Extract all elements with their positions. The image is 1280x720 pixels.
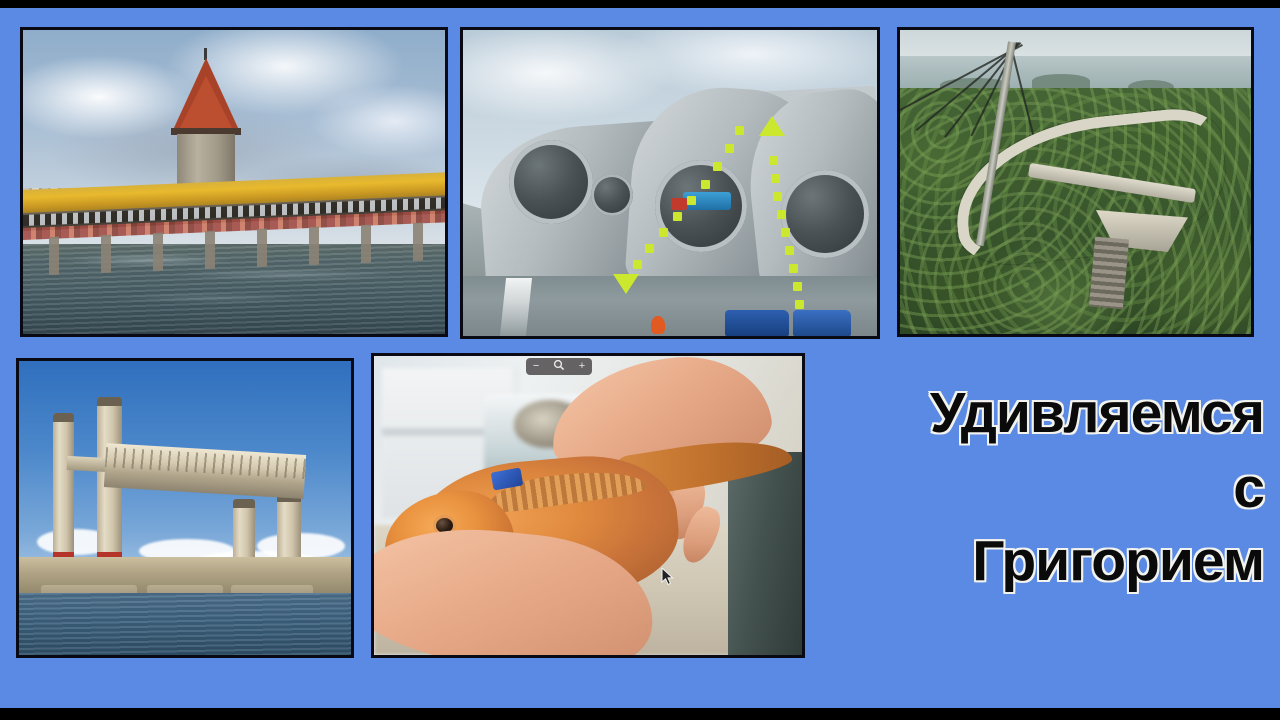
photo-panel-bearded-dragon[interactable]: − + [371, 353, 805, 658]
zoom-control-overlay[interactable]: − + [526, 358, 592, 375]
person-trousers [728, 452, 802, 655]
photo-panel-falkirk-wheel[interactable] [460, 27, 880, 339]
letterbox-bar-top [0, 0, 1280, 8]
parked-car-2 [793, 310, 851, 336]
water-tower [173, 58, 239, 190]
photo-panel-chaban-delmas-bridge[interactable] [16, 358, 354, 658]
title-line-2: с [812, 460, 1264, 517]
deck-stub [67, 456, 110, 472]
gondola-small [591, 174, 633, 216]
photo-panel-chapel-bridge-lucerne[interactable] [20, 27, 448, 337]
tower-cap [53, 413, 74, 422]
gondola-left [509, 140, 593, 224]
tower-cap [233, 499, 255, 508]
letterbox-bar-bottom [0, 708, 1280, 720]
boat-red-detail [671, 198, 687, 210]
zoom-out-button[interactable]: − [533, 361, 539, 372]
title-line-1: Удивляемся [812, 385, 1264, 442]
garonne-river [19, 593, 351, 655]
arrowhead-down [613, 274, 639, 294]
arrowhead-up [759, 116, 785, 136]
access-stairway [1089, 237, 1129, 310]
video-title: Удивляемся с Григорием [812, 385, 1264, 590]
tower-roof-inner [179, 76, 233, 130]
distant-island-2 [1032, 74, 1090, 88]
title-line-3: Григорием [812, 533, 1264, 590]
gondola-right [781, 170, 869, 258]
orange-buoy [651, 316, 665, 334]
thumbnail-canvas: − + Удивляемся с Григорием [0, 0, 1280, 720]
zoom-in-button[interactable]: + [579, 361, 585, 372]
tower-cap [97, 397, 122, 406]
magnifier-icon [553, 359, 565, 374]
photo-panel-langkawi-sky-bridge[interactable] [897, 27, 1254, 337]
parked-car-1 [725, 310, 789, 336]
